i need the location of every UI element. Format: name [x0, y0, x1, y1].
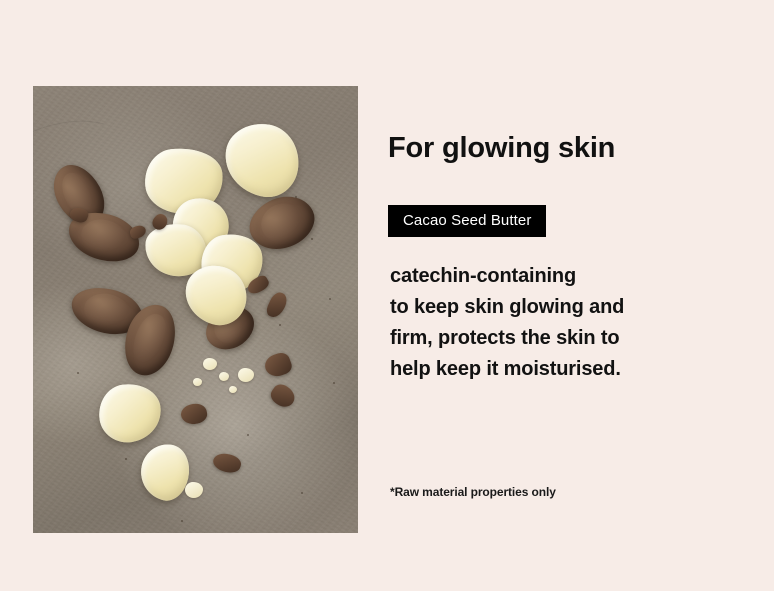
slide-root: For glowing skin Cacao Seed Butter catec…: [0, 0, 774, 591]
ingredient-photo: [33, 86, 358, 533]
description-line: catechin-containing: [390, 261, 720, 292]
ingredient-badge: Cacao Seed Butter: [388, 205, 546, 237]
text-column: For glowing skin Cacao Seed Butter catec…: [388, 0, 748, 591]
page-title: For glowing skin: [388, 132, 615, 165]
description-line: to keep skin glowing and: [390, 292, 720, 323]
description-line: help keep it moisturised.: [390, 354, 720, 385]
description-line: firm, protects the skin to: [390, 323, 720, 354]
footnote-disclaimer: *Raw material properties only: [390, 485, 556, 499]
ingredient-description: catechin-containing to keep skin glowing…: [390, 261, 720, 385]
